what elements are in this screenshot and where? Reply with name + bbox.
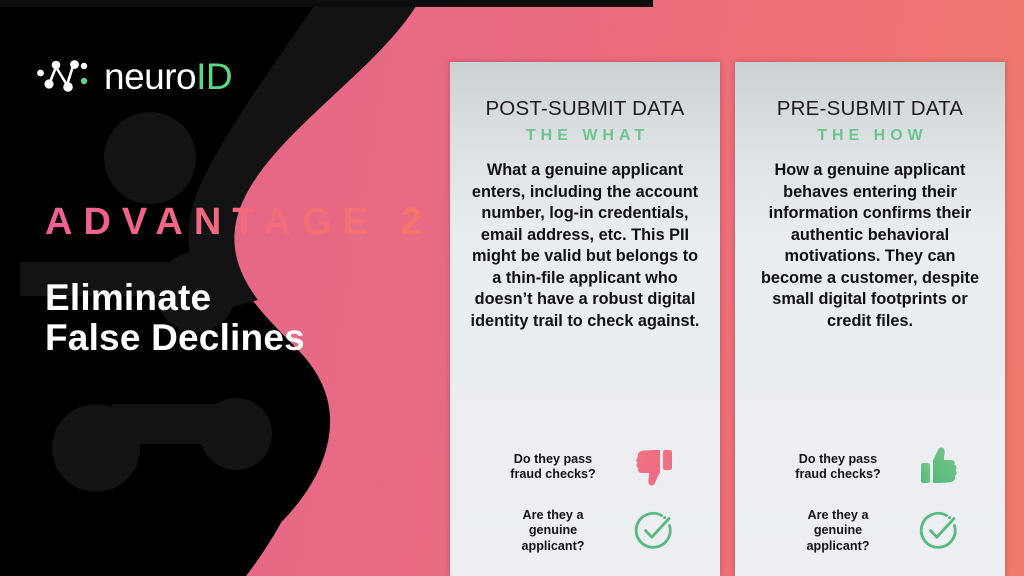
question-row-genuine-applicant: Are they a genuine applicant?: [751, 508, 989, 554]
question-label-line-2: fraud checks?: [795, 467, 880, 481]
card-title: POST-SUBMIT DATA: [466, 98, 704, 121]
circle-check-icon: [916, 508, 962, 554]
card-body-text: What a genuine applicant enters, includi…: [466, 160, 704, 332]
thumbs-down-icon: [631, 444, 677, 490]
card-title: PRE-SUBMIT DATA: [751, 98, 989, 121]
brand-logo: neuroID: [36, 52, 232, 100]
thumbs-up-icon: [916, 444, 962, 490]
card-post-submit-data: POST-SUBMIT DATA THE WHAT What a genuine…: [450, 62, 720, 576]
question-label-line-3: applicant?: [522, 539, 585, 553]
question-label: Are they a genuine applicant?: [493, 508, 613, 554]
question-label: Do they pass fraud checks?: [493, 452, 613, 483]
brand-wordmark: neuroID: [104, 58, 232, 95]
card-question-block: Do they pass fraud checks?: [751, 444, 989, 576]
brand-name-primary: neuro: [104, 56, 196, 97]
question-label-line-1: Are they a: [523, 508, 584, 522]
headline-line-2: False Declines: [45, 318, 305, 358]
comparison-cards: POST-SUBMIT DATA THE WHAT What a genuine…: [450, 62, 1006, 576]
hero-headline: Eliminate False Declines: [45, 278, 305, 358]
headline-line-1: Eliminate: [45, 278, 305, 318]
question-label-line-2: genuine: [529, 523, 577, 537]
slide-canvas: neuroID ADVANTAGE 2 Eliminate False Decl…: [0, 0, 1024, 576]
card-body-text: How a genuine applicant behaves entering…: [751, 160, 989, 332]
brand-name-accent: ID: [196, 56, 232, 97]
question-label-line-1: Do they pass: [799, 452, 877, 466]
question-label-line-2: genuine: [814, 523, 862, 537]
question-label: Do they pass fraud checks?: [778, 452, 898, 483]
card-subtitle: THE HOW: [751, 127, 989, 145]
question-row-fraud-checks: Do they pass fraud checks?: [751, 444, 989, 490]
card-subtitle: THE WHAT: [466, 127, 704, 145]
question-label-line-2: fraud checks?: [510, 467, 595, 481]
neuroid-node-graph-icon: [36, 52, 94, 100]
card-question-block: Do they pass fraud checks?: [466, 444, 704, 576]
question-label-line-1: Do they pass: [514, 452, 592, 466]
card-pre-submit-data: PRE-SUBMIT DATA THE HOW How a genuine ap…: [735, 62, 1005, 576]
top-accent-strip: [0, 0, 653, 7]
question-label-line-3: applicant?: [807, 539, 870, 553]
question-row-genuine-applicant: Are they a genuine applicant?: [466, 508, 704, 554]
question-label: Are they a genuine applicant?: [778, 508, 898, 554]
advantage-eyebrow: ADVANTAGE 2: [45, 203, 433, 241]
question-row-fraud-checks: Do they pass fraud checks?: [466, 444, 704, 490]
circle-check-icon: [631, 508, 677, 554]
question-label-line-1: Are they a: [808, 508, 869, 522]
